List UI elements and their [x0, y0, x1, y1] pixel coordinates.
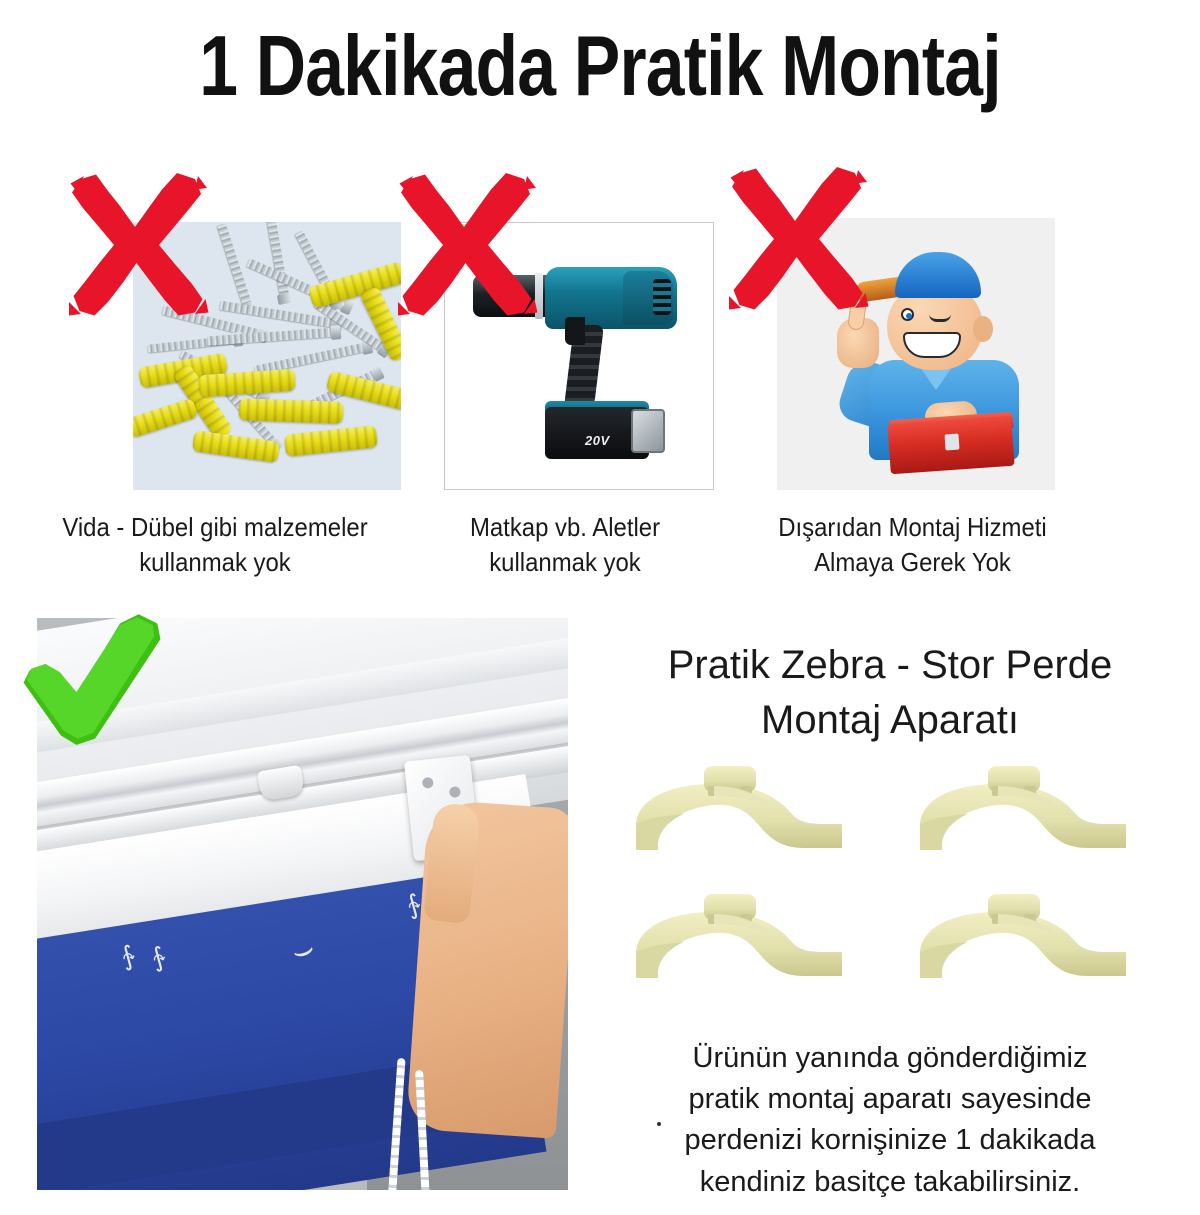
caption-line-2: Almaya Gerek Yok [814, 547, 1011, 577]
prohibited-item-caption: Dışarıdan Montaj Hizmeti Almaya Gerek Yo… [749, 510, 1076, 580]
prohibited-item-drill: 20V Matkap vb. Aletler kullanmak yok [400, 160, 730, 590]
drill-vents [653, 279, 671, 315]
caption-line-1: Vida - Dübel gibi malzemeler [62, 512, 367, 542]
product-heading: Pratik Zebra - Stor Perde Montaj Aparatı [600, 638, 1180, 748]
drill-collar-ring [535, 273, 543, 319]
product-heading-line-1: Pratik Zebra - Stor Perde [668, 643, 1113, 687]
handyman-eye [901, 308, 914, 321]
caption-line-1: Matkap vb. Aletler [470, 512, 660, 542]
prohibited-item-caption: Vida - Dübel gibi malzemeler kullanmak y… [49, 510, 380, 580]
description-line-1: Ürünün yanında gönderdiğimiz [693, 1042, 1088, 1074]
description-line-2: pratik montaj aparatı sayesinde [689, 1083, 1092, 1115]
prohibited-item-screws: Vida - Dübel gibi malzemeler kullanmak y… [35, 160, 395, 590]
handyman-illustration [821, 244, 1051, 476]
plastic-mounting-bracket [912, 892, 1138, 988]
plastic-mounting-bracket [628, 764, 854, 860]
plastic-mounting-bracket [628, 892, 854, 988]
product-heading-line-2: Montaj Aparatı [761, 698, 1019, 742]
prohibited-item-installer: Dışarıdan Montaj Hizmeti Almaya Gerek Yo… [735, 160, 1090, 590]
drill-illustration: 20V [473, 257, 691, 462]
toolbox-latch [944, 434, 959, 451]
caption-line-1: Dışarıdan Montaj Hizmeti [778, 512, 1047, 542]
description-line-4: kendiniz basitçe takabilirsiniz. [700, 1166, 1080, 1198]
bracket-gallery [612, 758, 1172, 1008]
screws-and-wall-plugs-photo [133, 222, 401, 490]
description-line-3: perdenizi kornişinize 1 dakikada [684, 1124, 1095, 1156]
prohibited-item-caption: Matkap vb. Aletler kullanmak yok [413, 510, 717, 580]
handyman-cartoon [777, 218, 1055, 490]
drill-belt-clip [631, 409, 665, 453]
green-check-icon [14, 608, 170, 748]
prohibited-items-row: Vida - Dübel gibi malzemeler kullanmak y… [0, 160, 1200, 590]
cordless-drill-photo: 20V [444, 222, 714, 490]
caption-line-2: kullanmak yok [489, 547, 641, 577]
plastic-mounting-bracket [912, 764, 1138, 860]
handyman-ear [973, 316, 993, 342]
drill-battery-voltage-label: 20V [585, 433, 610, 448]
page-title: 1 Dakikada Pratik Montaj [108, 22, 1092, 111]
drill-trigger [565, 317, 585, 345]
handyman-cap [895, 252, 981, 298]
caption-line-2: kullanmak yok [139, 547, 291, 577]
product-description: Ürünün yanında gönderdiğimiz pratik mont… [600, 1038, 1180, 1203]
